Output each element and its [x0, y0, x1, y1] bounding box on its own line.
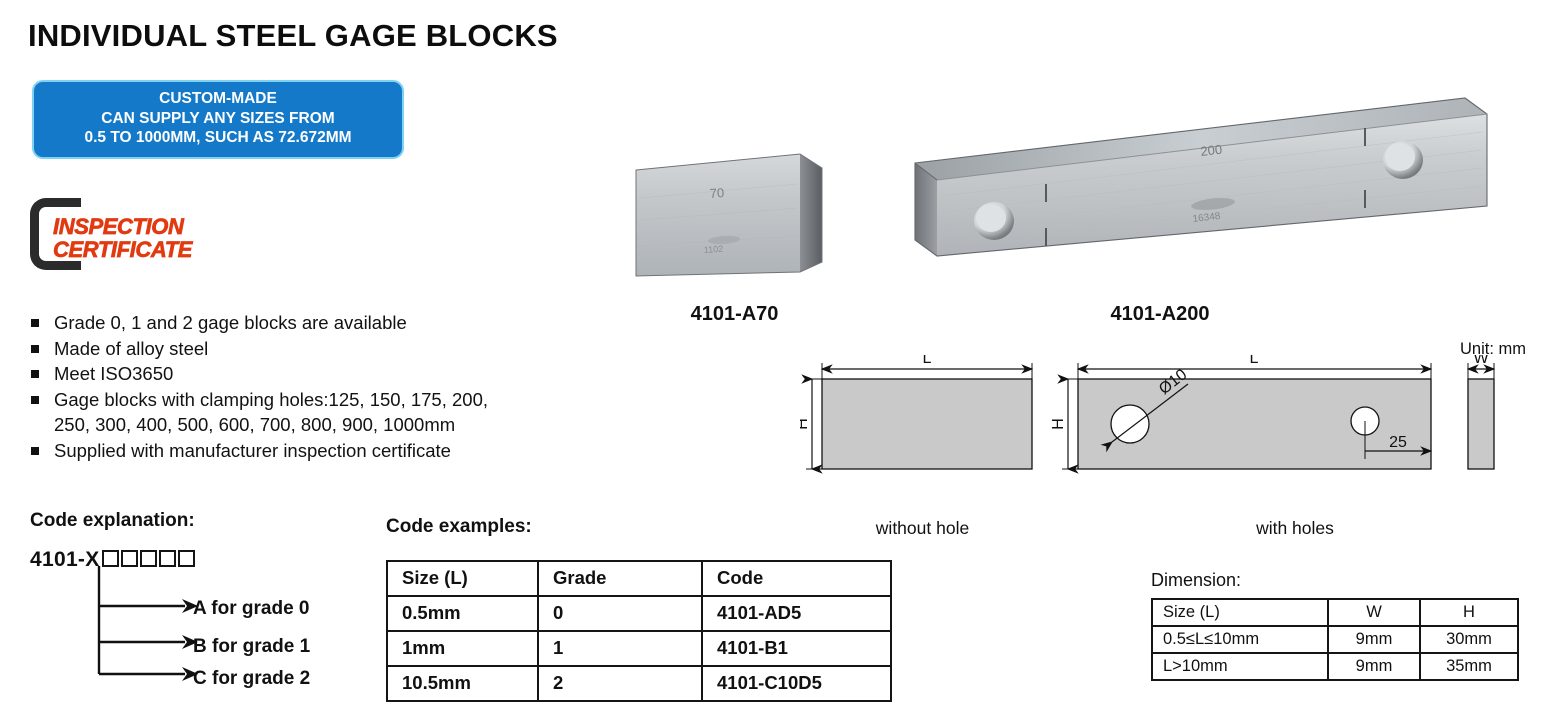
feature-text: Grade 0, 1 and 2 gage blocks are availab…	[54, 312, 407, 333]
cell-size: 0.5≤L≤10mm	[1152, 626, 1328, 653]
list-item: Supplied with manufacturer inspection ce…	[30, 438, 630, 464]
column-header-size: Size (L)	[1152, 599, 1328, 626]
cell-w: 9mm	[1328, 653, 1420, 680]
grade-label-a: A for grade 0	[193, 598, 310, 620]
svg-text:1102: 1102	[703, 244, 723, 255]
feature-text: Meet ISO3650	[54, 363, 173, 384]
table-row: 10.5mm 2 4101-C10D5	[387, 666, 891, 701]
banner-line-2: CAN SUPPLY ANY SIZES FROM	[34, 109, 402, 129]
product-photo-4101-a70: 70 1102	[632, 150, 837, 280]
cell-code: 4101-AD5	[702, 596, 891, 631]
technical-drawings: L H L H Ø10 25 W	[800, 355, 1540, 520]
code-explanation-title: Code explanation:	[30, 510, 195, 532]
dimension-title: Dimension:	[1151, 570, 1241, 591]
bullet-square-icon	[31, 319, 39, 327]
code-box-2	[121, 550, 138, 567]
code-box-4	[159, 550, 176, 567]
product-photo-4101-a200: 200 16348	[893, 88, 1493, 293]
dimension-table: Size (L) W H 0.5≤L≤10mm 9mm 30mm L>10mm …	[1151, 598, 1519, 681]
custom-made-banner: CUSTOM-MADE CAN SUPPLY ANY SIZES FROM 0.…	[32, 80, 404, 159]
svg-text:H: H	[800, 418, 811, 430]
table-header-row: Size (L) Grade Code	[387, 561, 891, 596]
bullet-square-icon	[31, 345, 39, 353]
svg-text:25: 25	[1389, 434, 1407, 451]
list-item: Gage blocks with clamping holes:125, 150…	[30, 387, 630, 438]
table-row: L>10mm 9mm 35mm	[1152, 653, 1518, 680]
grade-label-c: C for grade 2	[193, 668, 310, 690]
svg-text:L: L	[923, 355, 932, 367]
table-row: 0.5≤L≤10mm 9mm 30mm	[1152, 626, 1518, 653]
column-header-code: Code	[702, 561, 891, 596]
inspection-certificate-logo: INSPECTION CERTIFICATE	[28, 196, 260, 274]
logo-line-1: INSPECTION	[53, 216, 192, 239]
column-header-w: W	[1328, 599, 1420, 626]
drawing-caption-without-hole: without hole	[820, 518, 1025, 539]
cell-grade: 0	[538, 596, 702, 631]
cell-grade: 1	[538, 631, 702, 666]
logo-line-2: CERTIFICATE	[53, 239, 192, 262]
bullet-square-icon	[31, 447, 39, 455]
code-box-5	[178, 550, 195, 567]
code-examples-title: Code examples:	[386, 516, 532, 538]
list-item: Meet ISO3650	[30, 361, 630, 387]
feature-text: Made of alloy steel	[54, 338, 208, 359]
table-header-row: Size (L) W H	[1152, 599, 1518, 626]
code-box-3	[140, 550, 157, 567]
cell-size: 10.5mm	[387, 666, 538, 701]
product-caption-small: 4101-A70	[632, 303, 837, 326]
list-item: Grade 0, 1 and 2 gage blocks are availab…	[30, 310, 630, 336]
bullet-square-icon	[31, 370, 39, 378]
svg-text:W: W	[1473, 355, 1489, 367]
inspection-logo-text: INSPECTION CERTIFICATE	[53, 216, 192, 261]
table-row: 0.5mm 0 4101-AD5	[387, 596, 891, 631]
feature-text-continued: 250, 300, 400, 500, 600, 700, 800, 900, …	[54, 412, 630, 438]
code-box-1	[102, 550, 119, 567]
grade-label-b: B for grade 1	[193, 636, 310, 658]
cell-size: 0.5mm	[387, 596, 538, 631]
cell-w: 9mm	[1328, 626, 1420, 653]
column-header-h: H	[1420, 599, 1518, 626]
list-item: Made of alloy steel	[30, 336, 630, 362]
column-header-size: Size (L)	[387, 561, 538, 596]
svg-text:200: 200	[1200, 142, 1223, 159]
feature-list: Grade 0, 1 and 2 gage blocks are availab…	[30, 310, 630, 463]
bullet-square-icon	[31, 396, 39, 404]
cell-size: L>10mm	[1152, 653, 1328, 680]
cell-h: 35mm	[1420, 653, 1518, 680]
drawing-caption-with-holes: with holes	[1180, 518, 1410, 539]
cell-size: 1mm	[387, 631, 538, 666]
table-row: 1mm 1 4101-B1	[387, 631, 891, 666]
feature-text: Gage blocks with clamping holes:125, 150…	[54, 389, 488, 410]
cell-h: 30mm	[1420, 626, 1518, 653]
svg-text:H: H	[1050, 418, 1067, 430]
cell-grade: 2	[538, 666, 702, 701]
cell-code: 4101-C10D5	[702, 666, 891, 701]
svg-text:L: L	[1250, 355, 1259, 367]
column-header-grade: Grade	[538, 561, 702, 596]
banner-line-3: 0.5 TO 1000MM, SUCH AS 72.672MM	[34, 128, 402, 148]
feature-text: Supplied with manufacturer inspection ce…	[54, 440, 451, 461]
banner-line-1: CUSTOM-MADE	[34, 89, 402, 109]
cell-code: 4101-B1	[702, 631, 891, 666]
page-title: INDIVIDUAL STEEL GAGE BLOCKS	[28, 18, 558, 54]
svg-text:70: 70	[709, 185, 724, 201]
code-examples-table: Size (L) Grade Code 0.5mm 0 4101-AD5 1mm…	[386, 560, 892, 702]
product-caption-large: 4101-A200	[1000, 303, 1320, 326]
